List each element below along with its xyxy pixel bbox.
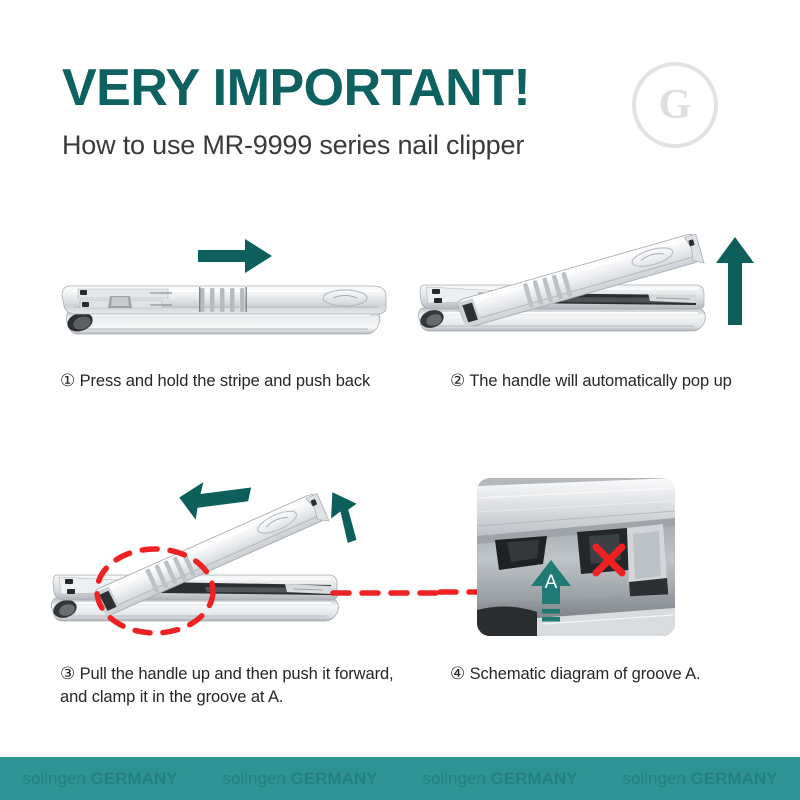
step-2-illustration xyxy=(410,215,780,360)
step-3-text-line2: and clamp it in the groove at A. xyxy=(60,688,283,706)
step-4-number: ④ xyxy=(450,664,465,683)
footer-brand-light: solingen xyxy=(423,769,486,788)
step-3-illustration xyxy=(45,465,445,650)
step-1-illustration xyxy=(50,220,400,360)
step-4-detail-panel: A xyxy=(477,478,675,636)
footer-brand-band: solingen GERMANY solingen GERMANY soling… xyxy=(0,757,800,800)
groove-a-label: A xyxy=(545,572,558,593)
logo-letter: G xyxy=(659,84,692,126)
infographic-page: VERY IMPORTANT! How to use MR-9999 serie… xyxy=(0,0,800,800)
header: VERY IMPORTANT! How to use MR-9999 serie… xyxy=(62,62,530,161)
arrow-left-icon xyxy=(178,481,251,524)
step-2-number: ② xyxy=(450,371,465,390)
step-1-number: ① xyxy=(60,371,75,390)
footer-brand-item: solingen GERMANY xyxy=(200,770,400,787)
page-title: VERY IMPORTANT! xyxy=(62,62,530,114)
step-3-text-line1: Pull the handle up and then push it forw… xyxy=(80,665,394,683)
footer-brand-bold: GERMANY xyxy=(691,769,778,788)
step-4-text: Schematic diagram of groove A. xyxy=(470,665,701,683)
step-3-number: ③ xyxy=(60,664,75,683)
footer-brand-light: solingen xyxy=(223,769,286,788)
step-2-caption: ② The handle will automatically pop up xyxy=(450,369,732,393)
footer-brand-bold: GERMANY xyxy=(491,769,578,788)
groove-a-marker: A xyxy=(529,552,579,628)
step-1-text: Press and hold the stripe and push back xyxy=(80,372,371,390)
nail-clipper-closed xyxy=(62,286,386,335)
footer-brand-item: solingen GERMANY xyxy=(600,770,800,787)
footer-brand-light: solingen xyxy=(623,769,686,788)
footer-brand-bold: GERMANY xyxy=(291,769,378,788)
footer-brand-item: solingen GERMANY xyxy=(0,770,200,787)
footer-brand-bold: GERMANY xyxy=(91,769,178,788)
arrow-right-icon xyxy=(198,239,272,273)
footer-brand-light: solingen xyxy=(23,769,86,788)
page-subtitle: How to use MR-9999 series nail clipper xyxy=(62,130,530,161)
red-cross-marker xyxy=(589,540,629,580)
step-1-caption: ① Press and hold the stripe and push bac… xyxy=(60,369,370,393)
step-2-text: The handle will automatically pop up xyxy=(469,372,731,390)
arrow-up-right-icon xyxy=(328,490,360,545)
step-3-caption: ③ Pull the handle up and then push it fo… xyxy=(60,662,440,710)
nail-clipper-open xyxy=(418,232,705,331)
brand-logo-watermark: G xyxy=(632,62,718,148)
footer-brand-item: solingen GERMANY xyxy=(400,770,600,787)
arrow-up-icon xyxy=(716,237,754,325)
step-4-caption: ④ Schematic diagram of groove A. xyxy=(450,662,701,686)
